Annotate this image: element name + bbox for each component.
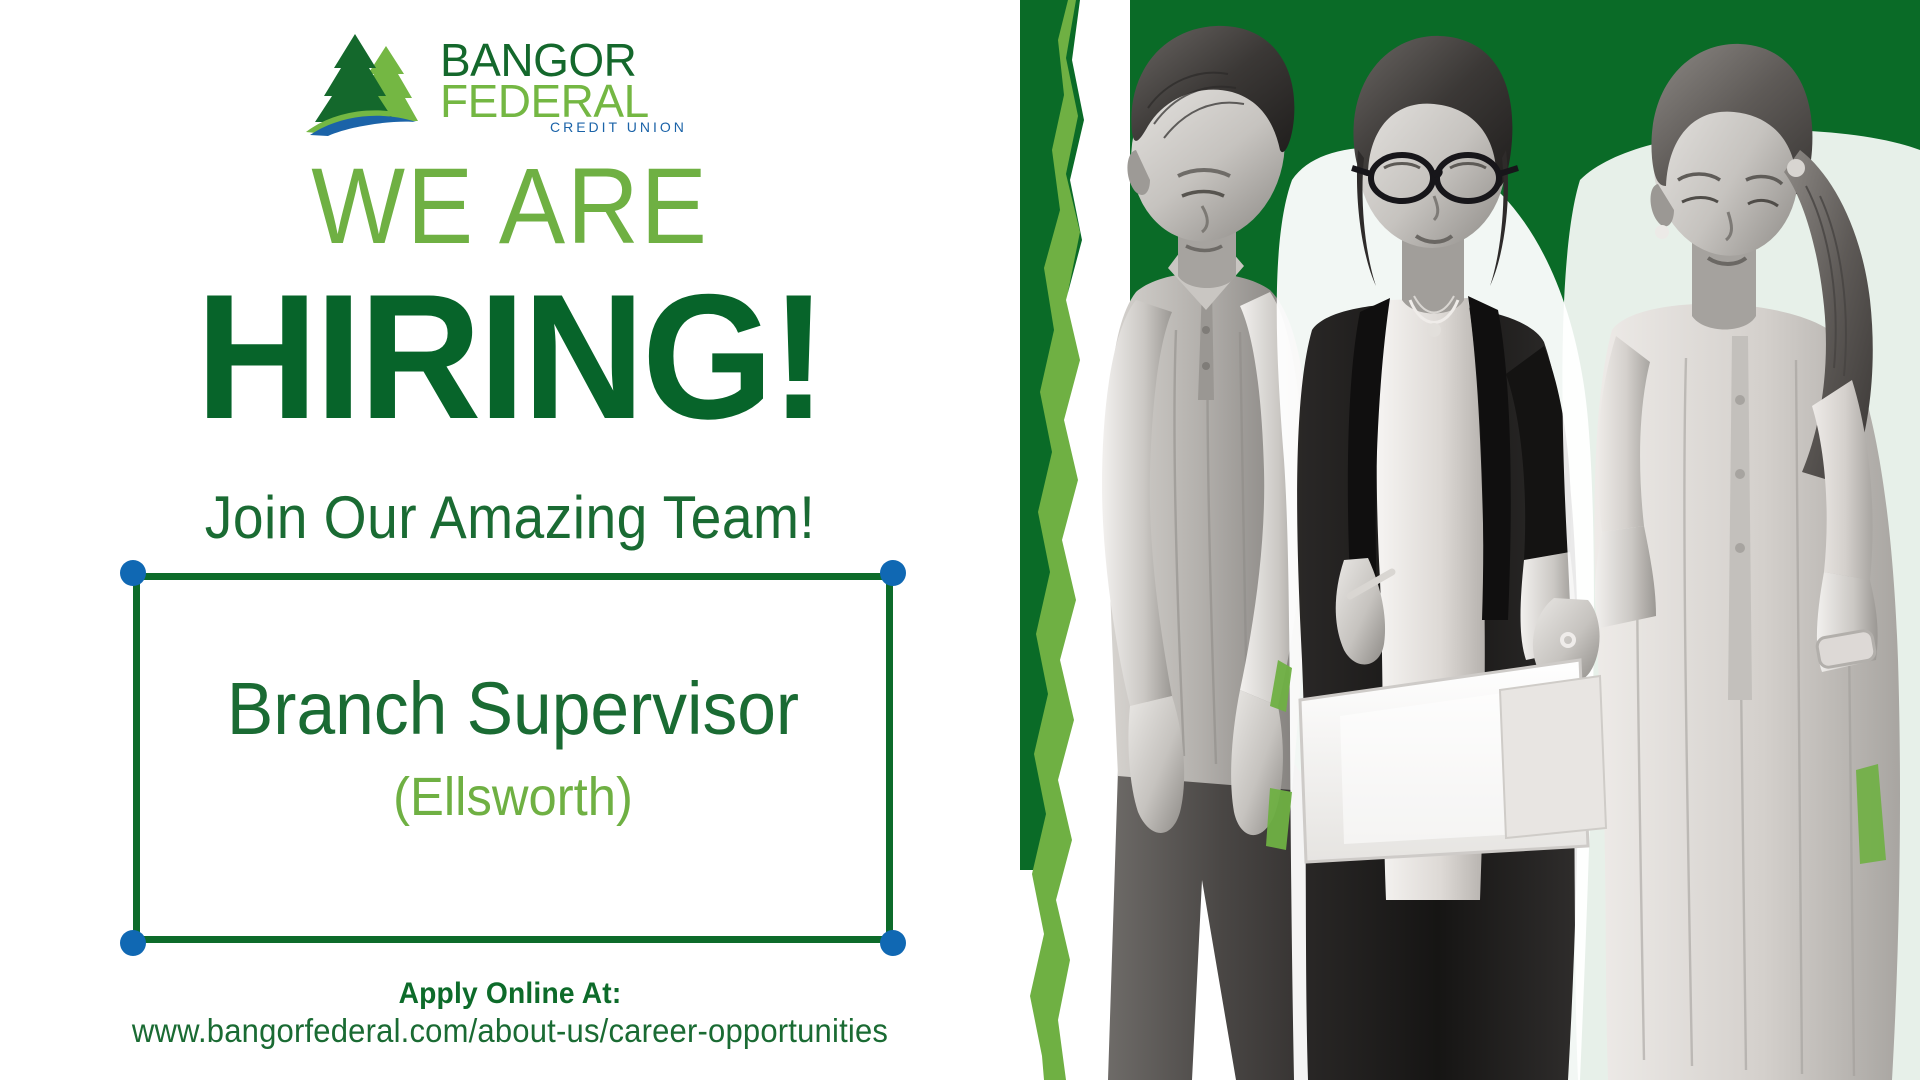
box-corner-dot-top-left: [120, 560, 146, 586]
job-location: (Ellsworth): [156, 770, 870, 824]
job-posting-box: [133, 573, 893, 943]
apply-online-url[interactable]: www.bangorfederal.com/about-us/career-op…: [31, 1012, 990, 1050]
logo-word-credit-union: CREDIT UNION: [550, 119, 687, 135]
hiring-poster: BANGOR FEDERAL CREDIT UNION WE ARE HIRIN…: [0, 0, 1920, 1080]
team-photo-illustration: [940, 0, 1920, 1080]
poster-left-content: BANGOR FEDERAL CREDIT UNION WE ARE HIRIN…: [0, 0, 1020, 1080]
person-woman-right: [1533, 44, 1920, 1080]
person-man: [1102, 26, 1312, 1080]
headline-we-are: WE ARE: [41, 152, 979, 260]
job-title: Branch Supervisor: [156, 672, 870, 746]
person-woman-center: [1277, 36, 1594, 1080]
logo-artwork: BANGOR FEDERAL CREDIT UNION: [300, 28, 720, 136]
apply-online-label: Apply Online At:: [31, 977, 990, 1011]
box-corner-dot-top-right: [880, 560, 906, 586]
box-corner-dot-bottom-left: [120, 930, 146, 956]
headline-hiring: HIRING!: [26, 268, 995, 446]
headline-tagline: Join Our Amazing Team!: [41, 485, 979, 551]
bangor-federal-logo[interactable]: BANGOR FEDERAL CREDIT UNION: [300, 28, 720, 136]
box-corner-dot-bottom-right: [880, 930, 906, 956]
team-photo: [940, 0, 1920, 1080]
